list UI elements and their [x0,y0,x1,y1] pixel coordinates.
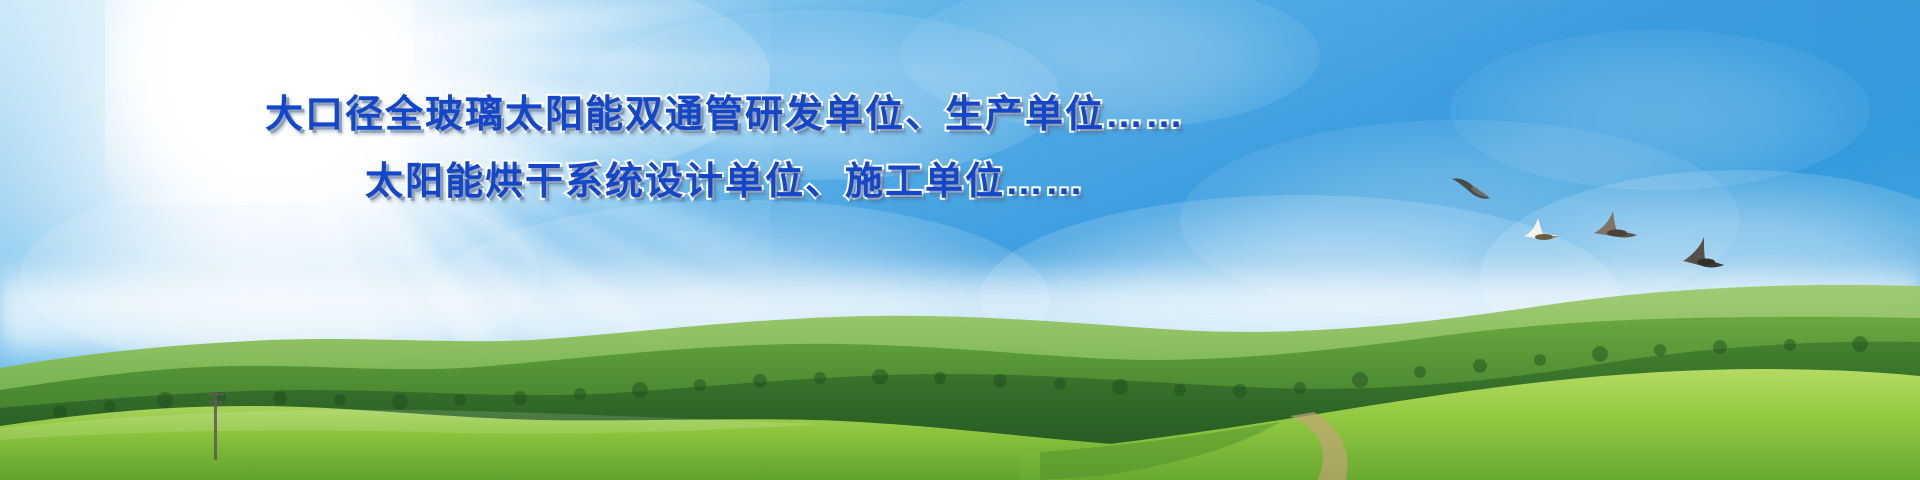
headline-line-1: 大口径全玻璃太阳能双通管研发单位、生产单位…… [0,96,1450,136]
headline-block: 大口径全玻璃太阳能双通管研发单位、生产单位…… 太阳能烘干系统设计单位、施工单位… [0,96,1450,203]
utility-pole-icon [205,384,227,460]
hero-banner: 大口径全玻璃太阳能双通管研发单位、生产单位…… 太阳能烘干系统设计单位、施工单位… [0,0,1920,480]
hill-icon [0,240,1920,480]
bird-icon [1593,210,1639,244]
headline-line-2: 太阳能烘干系统设计单位、施工单位…… [0,163,1450,203]
bird-icon [1522,216,1566,246]
bird-icon [1450,176,1492,202]
bird-icon [1682,236,1726,272]
